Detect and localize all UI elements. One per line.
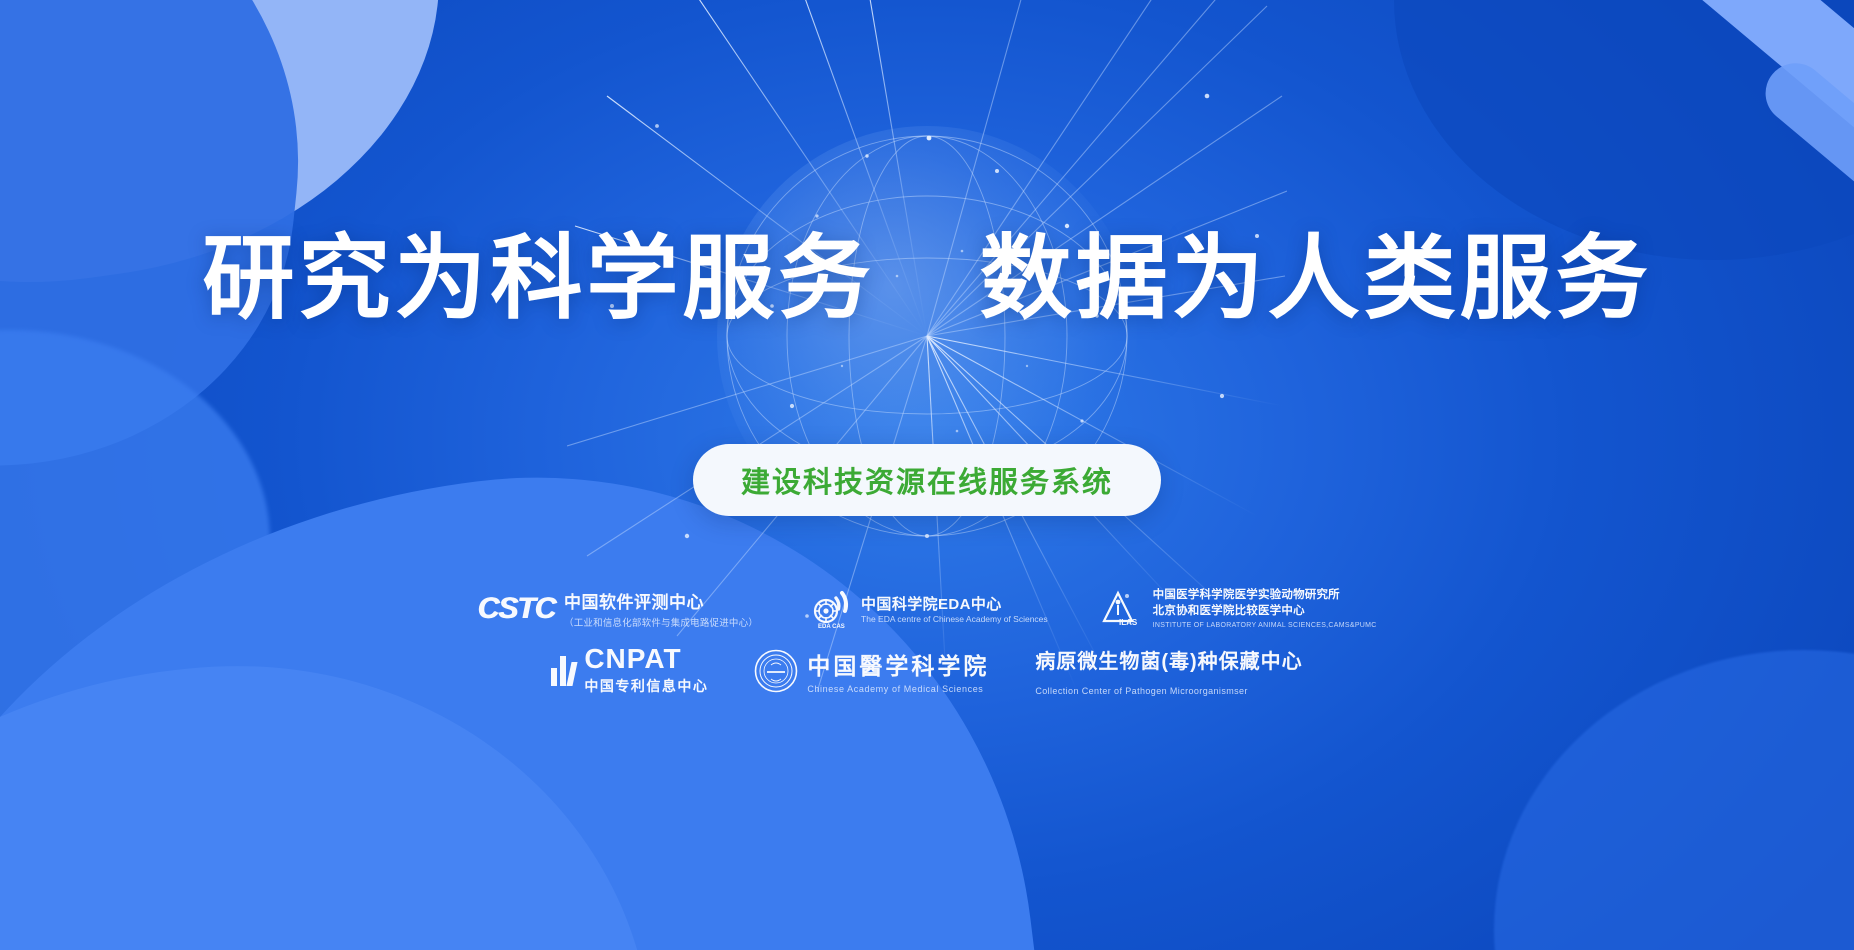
ilas-triangle-icon: ILAS	[1102, 589, 1144, 629]
logo-cams-name: 中国醫学科学院	[807, 647, 989, 681]
logo-cstc-subname: （工业和信息化部软件与集成电路促进中心）	[564, 615, 758, 629]
partner-logo-row-2: CNPAT 中国专利信息中心 中国醫学科学院	[551, 645, 1302, 696]
logo-cstc-text: 中国软件评测中心 （工业和信息化部软件与集成电路促进中心）	[564, 588, 758, 629]
logo-ilas-subname: INSTITUTE OF LABORATORY ANIMAL SCIENCES,…	[1153, 622, 1377, 629]
logo-eda-cas[interactable]: EDA CAS 中国科学院EDA中心 The EDA centre of Chi…	[812, 589, 1048, 629]
decorative-stripe-top-right	[1570, 0, 1854, 165]
logo-cams-subname: Chinese Academy of Medical Sciences	[807, 684, 989, 694]
logo-eda-cas-name: 中国科学院EDA中心	[861, 593, 1048, 614]
logo-eda-cas-text: 中国科学院EDA中心 The EDA centre of Chinese Aca…	[861, 593, 1048, 624]
cstc-wordmark-icon: CSTC	[477, 594, 555, 624]
decorative-blob-top-right	[1394, 0, 1854, 260]
logo-pathogen-subname: Collection Center of Pathogen Microorgan…	[1035, 686, 1248, 696]
cnpat-bars-icon	[551, 656, 575, 686]
cams-seal-icon	[754, 649, 798, 693]
ilas-mark-label: ILAS	[1119, 618, 1138, 627]
logo-cstc[interactable]: CSTC 中国软件评测中心 （工业和信息化部软件与集成电路促进中心）	[477, 588, 758, 629]
logo-ilas-text: 中国医学科学院医学实验动物研究所 北京协和医学院比较医学中心 INSTITUTE…	[1153, 588, 1377, 628]
hero-banner: 研究为科学服务 数据为人类服务 建设科技资源在线服务系统 CSTC 中国软件评测…	[0, 0, 1854, 950]
eda-cas-mark-label: EDA CAS	[818, 624, 845, 629]
logo-cnpat[interactable]: CNPAT 中国专利信息中心	[551, 645, 708, 696]
logo-cams-text: 中国醫学科学院 Chinese Academy of Medical Scien…	[807, 647, 989, 694]
logo-cnpat-name: 中国专利信息中心	[584, 676, 708, 696]
cstc-wordmark-text: CSTC	[477, 594, 555, 624]
cnpat-wordmark-text: CNPAT	[584, 645, 708, 673]
banner-headline: 研究为科学服务 数据为人类服务	[0, 228, 1854, 331]
logo-eda-cas-subname: The EDA centre of Chinese Academy of Sci…	[861, 614, 1048, 624]
subtitle-pill-label: 建设科技资源在线服务系统	[741, 459, 1113, 501]
logo-cams[interactable]: 中国醫学科学院 Chinese Academy of Medical Scien…	[754, 647, 989, 694]
logo-ilas-name-line1: 中国医学科学院医学实验动物研究所	[1153, 588, 1377, 604]
subtitle-pill-button[interactable]: 建设科技资源在线服务系统	[693, 444, 1161, 516]
headline-left: 研究为科学服务	[202, 228, 874, 330]
logo-ilas-name-line2: 北京协和医学院比较医学中心	[1153, 604, 1377, 620]
partner-logo-row-1: CSTC 中国软件评测中心 （工业和信息化部软件与集成电路促进中心）	[477, 588, 1376, 629]
partner-logos: CSTC 中国软件评测中心 （工业和信息化部软件与集成电路促进中心）	[0, 588, 1854, 696]
logo-ilas[interactable]: ILAS 中国医学科学院医学实验动物研究所 北京协和医学院比较医学中心 INST…	[1102, 588, 1377, 628]
eda-cas-icon: EDA CAS	[812, 589, 852, 629]
logo-pathogen-collection[interactable]: 病原微生物菌(毒)种保藏中心 Collection Center of Path…	[1035, 645, 1302, 696]
logo-cnpat-text: CNPAT 中国专利信息中心	[584, 645, 708, 696]
logo-pathogen-name: 病原微生物菌(毒)种保藏中心	[1035, 645, 1302, 674]
logo-cstc-name: 中国软件评测中心	[564, 588, 758, 613]
headline-right: 数据为人类服务	[980, 228, 1652, 330]
